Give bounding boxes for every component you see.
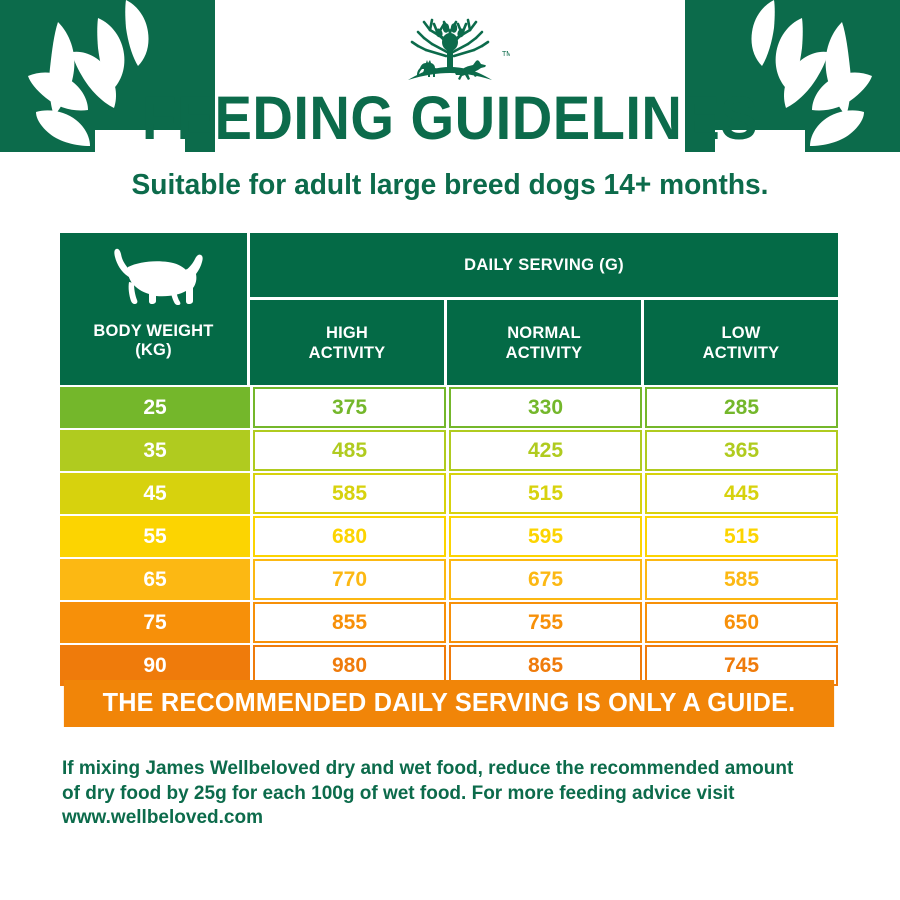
column-header-high-line2: ACTIVITY [309,344,386,362]
cell-body-weight: 75 [60,602,250,643]
footnote-line-1: If mixing James Wellbeloved dry and wet … [62,757,840,782]
cell-high-activity: 770 [253,559,446,600]
footnote-line-2: of dry food by 25g for each 100g of wet … [62,782,840,807]
column-header-low-activity: LOW ACTIVITY [644,300,838,385]
daily-serving-header: DAILY SERVING (G) [250,233,838,300]
column-header-normal-line1: NORMAL [507,324,581,342]
column-header-high-activity: HIGH ACTIVITY [250,300,447,385]
tree-with-paw-icon: TM [390,12,510,88]
table-row: 65770675585 [60,559,838,600]
cell-normal-activity: 515 [449,473,642,514]
cell-normal-activity: 755 [449,602,642,643]
column-header-high-line1: HIGH [326,324,368,342]
table-row: 55680595515 [60,516,838,557]
brand-logo: TM [0,12,900,88]
column-header-low-line2: ACTIVITY [703,344,780,362]
cell-low-activity: 445 [645,473,838,514]
column-header-normal-line2: ACTIVITY [506,344,583,362]
cell-high-activity: 375 [253,387,446,428]
cell-body-weight: 45 [60,473,250,514]
cell-body-weight: 35 [60,430,250,471]
table-row: 25375330285 [60,387,838,428]
cell-low-activity: 515 [645,516,838,557]
table-body: 2537533028535485425365455855154455568059… [60,387,838,686]
cell-high-activity: 680 [253,516,446,557]
body-weight-header-line1: BODY WEIGHT [93,322,213,340]
body-weight-header-label: BODY WEIGHT (KG) [93,322,213,360]
feeding-guidelines-table: BODY WEIGHT (KG) DAILY SERVING (G) HIGH … [60,233,838,686]
cell-high-activity: 485 [253,430,446,471]
cell-high-activity: 585 [253,473,446,514]
table-row: 75855755650 [60,602,838,643]
column-header-normal-activity: NORMAL ACTIVITY [447,300,644,385]
table-header: BODY WEIGHT (KG) DAILY SERVING (G) HIGH … [60,233,838,385]
cell-normal-activity: 330 [449,387,642,428]
cell-low-activity: 365 [645,430,838,471]
cell-body-weight: 55 [60,516,250,557]
cell-low-activity: 585 [645,559,838,600]
cell-normal-activity: 595 [449,516,642,557]
footnote-website: www.wellbeloved.com [62,806,840,831]
table-row: 45585515445 [60,473,838,514]
activity-headers: HIGH ACTIVITY NORMAL ACTIVITY LOW ACTIVI… [250,300,838,385]
cell-high-activity: 855 [253,602,446,643]
table-row: 35485425365 [60,430,838,471]
cell-low-activity: 285 [645,387,838,428]
cell-normal-activity: 675 [449,559,642,600]
dog-silhouette-icon [98,243,210,316]
cell-low-activity: 650 [645,602,838,643]
body-weight-header-cell: BODY WEIGHT (KG) [60,233,250,385]
page-subtitle: Suitable for adult large breed dogs 14+ … [14,168,887,202]
serving-header-group: DAILY SERVING (G) HIGH ACTIVITY NORMAL A… [250,233,838,385]
footnote: If mixing James Wellbeloved dry and wet … [62,757,840,831]
cell-normal-activity: 425 [449,430,642,471]
body-weight-header-line2: (KG) [135,341,172,359]
page-title: FEEDING GUIDELINES [36,86,864,150]
cell-body-weight: 65 [60,559,250,600]
column-header-low-line1: LOW [721,324,760,342]
guide-disclaimer-banner: THE RECOMMENDED DAILY SERVING IS ONLY A … [64,680,834,727]
cell-body-weight: 25 [60,387,250,428]
trademark-mark: TM [502,51,510,58]
